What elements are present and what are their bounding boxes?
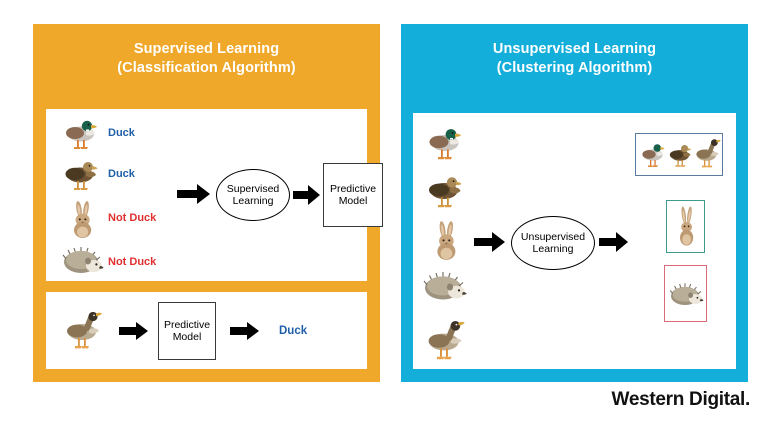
cluster-duck-icon	[693, 138, 723, 170]
unsupervised-process-line2: Learning	[533, 243, 574, 255]
supervised-learning-process: Supervised Learning	[216, 169, 290, 221]
inference-prediction-label: Duck	[279, 326, 307, 338]
hedgehog-cluster-box	[664, 265, 707, 322]
supervised-process-line1: Supervised	[227, 183, 280, 195]
input-duck-icon	[423, 319, 469, 363]
unsupervised-title-line1: Unsupervised Learning	[493, 41, 656, 57]
sample-label-2: Duck	[108, 169, 135, 180]
ducks-cluster-box	[635, 133, 723, 176]
brand-name: Western Digital	[612, 389, 745, 410]
inference-predictive-model-box: Predictive Model	[158, 302, 216, 360]
supervised-training-card: Duck Duck	[46, 109, 367, 281]
inference-duck-icon	[62, 310, 106, 352]
inference-model-line2: Model	[173, 331, 202, 343]
supervised-predictive-model-box: Predictive Model	[323, 163, 383, 227]
supervised-inference-card: Predictive Model Duck	[46, 292, 367, 369]
sample-label-1: Duck	[108, 128, 135, 139]
supervised-title-line2: (Classification Algorithm)	[33, 59, 380, 78]
supervised-learning-panel: Supervised Learning (Classification Algo…	[33, 24, 380, 382]
supervised-title-line1: Supervised Learning	[134, 41, 279, 57]
cluster-hedgehog-icon	[668, 282, 704, 308]
input-hedgehog-icon	[421, 271, 467, 303]
cluster-brown-duck-icon	[667, 142, 693, 169]
input-rabbit-icon	[431, 221, 463, 261]
arrow-inference-to-model	[119, 321, 149, 346]
hedgehog-icon	[60, 246, 104, 276]
supervised-panel-title: Supervised Learning (Classification Algo…	[33, 40, 380, 78]
sample-label-3: Not Duck	[108, 213, 156, 224]
inference-model-line1: Predictive	[164, 319, 210, 331]
unsupervised-learning-process: Unsupervised Learning	[511, 216, 595, 270]
brand-trailing-mark: .	[745, 389, 750, 410]
unsupervised-learning-panel: Unsupervised Learning (Clustering Algori…	[401, 24, 748, 382]
unsupervised-process-line1: Unsupervised	[521, 231, 585, 243]
arrow-to-predictive-model	[293, 184, 321, 211]
unsupervised-panel-title: Unsupervised Learning (Clustering Algori…	[401, 40, 748, 78]
cluster-rabbit-icon	[676, 206, 698, 248]
unsupervised-cluster-card: Unsupervised Learning	[413, 113, 736, 369]
arrow-to-clusters	[599, 231, 629, 258]
mallard-duck-icon	[62, 117, 100, 151]
supervised-process-line2: Learning	[233, 195, 274, 207]
rabbit-icon	[68, 201, 98, 239]
brown-duck-icon	[62, 158, 100, 192]
arrow-to-unsupervised-process	[474, 231, 506, 258]
input-mallard-duck-icon	[425, 125, 465, 161]
arrow-model-to-prediction	[230, 321, 260, 346]
cluster-mallard-duck-icon	[639, 141, 667, 169]
supervised-model-line1: Predictive	[330, 183, 376, 195]
sample-label-4: Not Duck	[108, 257, 156, 268]
rabbit-cluster-box	[666, 200, 705, 253]
arrow-to-supervised-process	[177, 183, 211, 210]
input-brown-duck-icon	[425, 173, 465, 209]
western-digital-logo: Western Digital.	[612, 389, 750, 411]
unsupervised-title-line2: (Clustering Algorithm)	[401, 59, 748, 78]
supervised-model-line2: Model	[339, 195, 368, 207]
